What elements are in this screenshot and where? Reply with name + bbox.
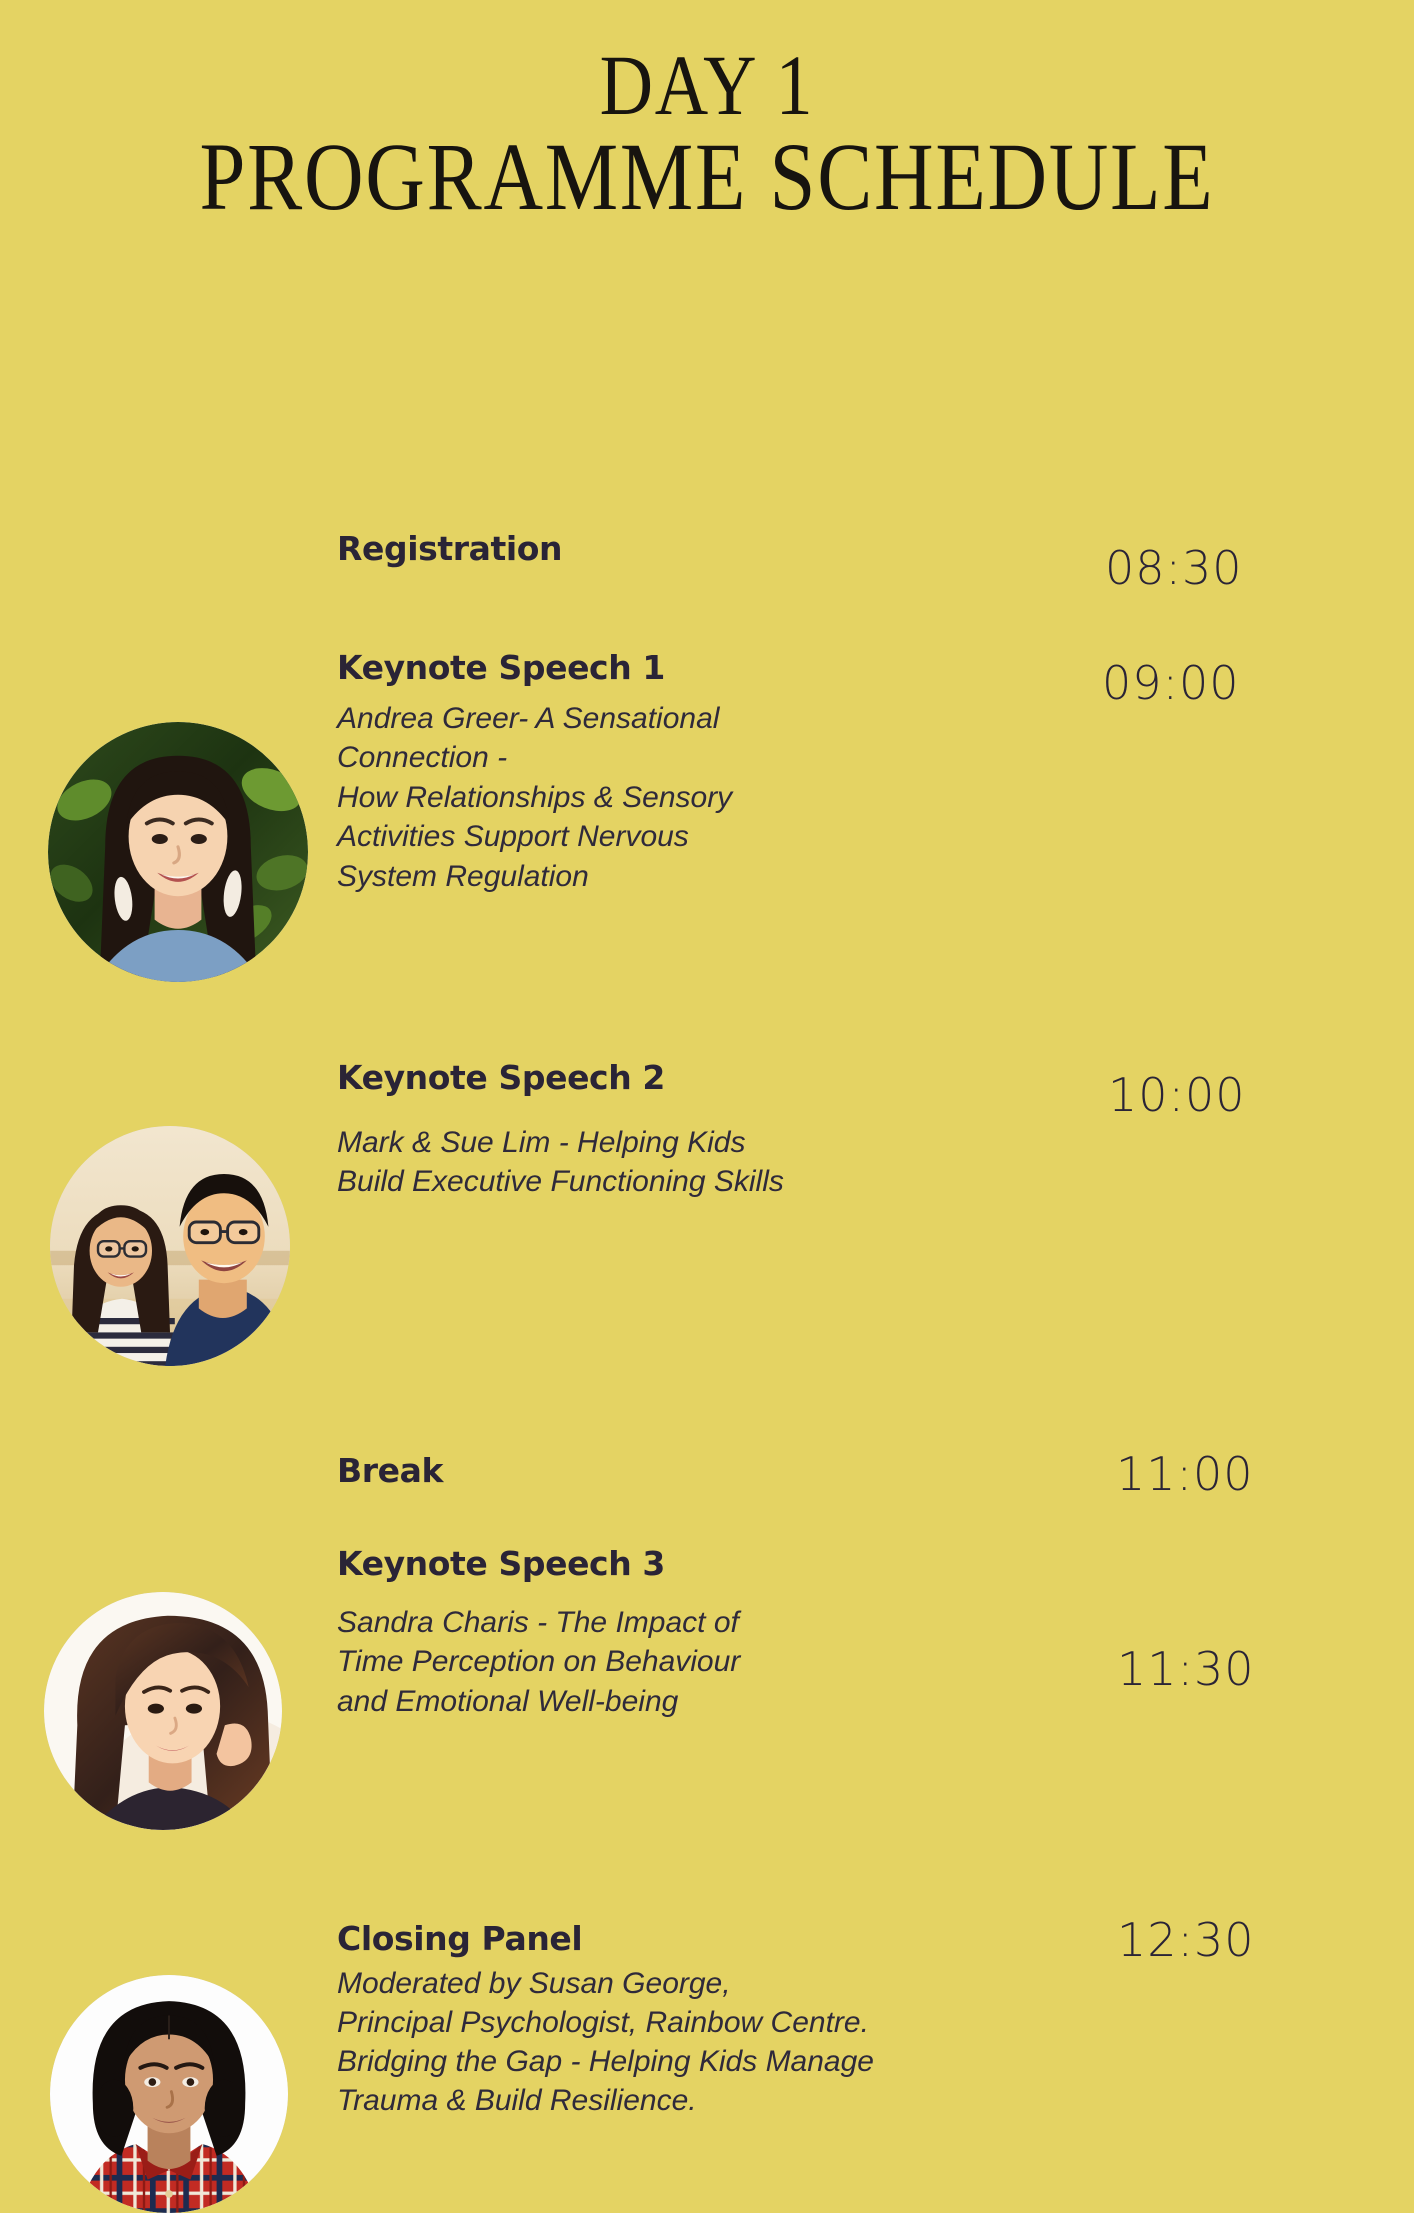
schedule-item-time: 11:30 — [1117, 1642, 1255, 1696]
description-line: Bridging the Gap - Helping Kids Manage — [337, 2042, 874, 2081]
page-title-day: DAY 1 — [99, 46, 1315, 126]
poster-header: DAY 1 PROGRAMME SCHEDULE — [0, 0, 1414, 221]
schedule-item-description: Mark & Sue Lim - Helping Kids Build Exec… — [337, 1123, 784, 1202]
schedule-row-body: Keynote Speech 3 Sandra Charis - The Imp… — [337, 1546, 740, 1721]
description-line: Andrea Greer- A Sensational — [337, 699, 732, 739]
schedule-item-time: 08:30 — [1105, 541, 1243, 595]
schedule-item-description: Moderated by Susan George, Principal Psy… — [337, 1964, 874, 2120]
description-line: Build Executive Functioning Skills — [337, 1162, 784, 1202]
speaker-avatar — [50, 1975, 288, 2213]
schedule-item-description: Andrea Greer- A Sensational Connection -… — [337, 699, 732, 897]
description-line: Sandra Charis - The Impact of — [337, 1603, 740, 1643]
description-line: How Relationships & Sensory — [337, 778, 732, 818]
schedule-item-title: Closing Panel — [337, 1921, 874, 1957]
description-line: System Regulation — [337, 857, 732, 897]
schedule-item-time: 11:00 — [1116, 1447, 1254, 1501]
page-title-programme-schedule: PROGRAMME SCHEDULE — [99, 132, 1315, 221]
schedule-row-body: Keynote Speech 1 Andrea Greer- A Sensati… — [337, 650, 732, 896]
description-line: Activities Support Nervous — [337, 817, 732, 857]
schedule-row-body: Registration — [337, 531, 562, 567]
description-line: Mark & Sue Lim - Helping Kids — [337, 1123, 784, 1163]
schedule-item-title: Keynote Speech 2 — [337, 1060, 784, 1096]
schedule-item-title: Registration — [337, 531, 562, 567]
schedule-item-title: Keynote Speech 3 — [337, 1546, 740, 1582]
speaker-avatar — [50, 1126, 290, 1366]
schedule-item-time: 09:00 — [1102, 656, 1240, 710]
schedule-item-title: Break — [337, 1453, 443, 1489]
description-line: Principal Psychologist, Rainbow Centre. — [337, 2003, 874, 2042]
description-line: Connection - — [337, 738, 732, 778]
schedule-item-time: 10:00 — [1108, 1068, 1246, 1122]
schedule-row-body: Keynote Speech 2 Mark & Sue Lim - Helpin… — [337, 1060, 784, 1201]
schedule-item-title: Keynote Speech 1 — [337, 650, 732, 686]
description-line: Moderated by Susan George, — [337, 1964, 874, 2003]
description-line: Time Perception on Behaviour — [337, 1642, 740, 1682]
schedule-row-body: Closing Panel Moderated by Susan George,… — [337, 1921, 874, 2119]
speaker-avatar — [44, 1592, 282, 1830]
description-line: Trauma & Build Resilience. — [337, 2081, 874, 2120]
schedule-item-description: Sandra Charis - The Impact of Time Perce… — [337, 1603, 740, 1722]
schedule-item-time: 12:30 — [1117, 1913, 1255, 1967]
schedule-row-body: Break — [337, 1453, 443, 1489]
description-line: and Emotional Well-being — [337, 1682, 740, 1722]
speaker-avatar — [48, 722, 308, 982]
